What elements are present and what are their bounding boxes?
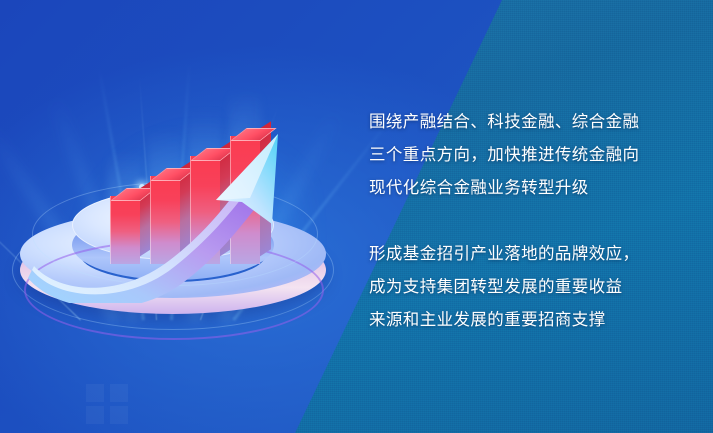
body-text-block: 围绕产融结合、科技金融、综合金融 三个重点方向，加快推进传统金融向 现代化综合金…	[369, 106, 689, 337]
growth-arrow	[28, 128, 308, 303]
paragraph-1-line-1: 围绕产融结合、科技金融、综合金融	[369, 106, 689, 139]
slide-canvas: 围绕产融结合、科技金融、综合金融 三个重点方向，加快推进传统金融向 现代化综合金…	[0, 0, 713, 433]
paragraph-2-line-2: 成为支持集团转型发展的重要收益	[369, 271, 689, 304]
paragraph-2-line-3: 来源和主业发展的重要招商支撑	[369, 304, 689, 337]
paragraph-2-line-1: 形成基金招引产业落地的品牌效应，	[369, 238, 689, 271]
paragraph-1: 围绕产融结合、科技金融、综合金融 三个重点方向，加快推进传统金融向 现代化综合金…	[369, 106, 689, 205]
paragraph-1-line-2: 三个重点方向，加快推进传统金融向	[369, 139, 689, 172]
paragraph-2: 形成基金招引产业落地的品牌效应， 成为支持集团转型发展的重要收益 来源和主业发展…	[369, 238, 689, 337]
paragraph-1-line-3: 现代化综合金融业务转型升级	[369, 172, 689, 205]
